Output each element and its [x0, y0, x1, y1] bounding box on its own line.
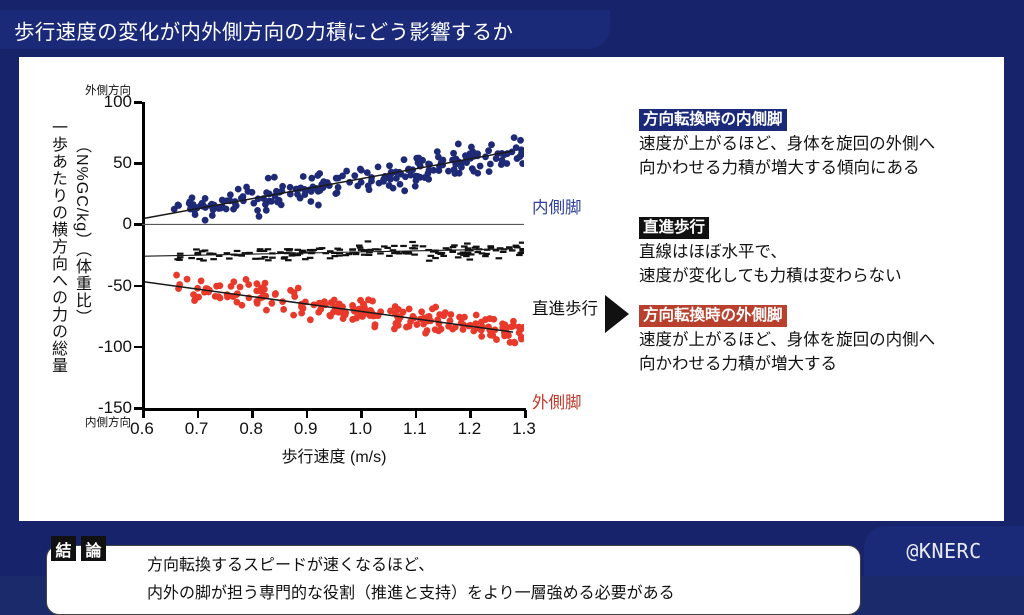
annotation-header: 方向転換時の内側脚: [639, 109, 787, 131]
y-tick: [134, 101, 142, 104]
x-tick-label: 0.9: [284, 419, 328, 439]
x-tick: [306, 410, 309, 418]
x-tick-label: 1.0: [338, 419, 382, 439]
annotation-line: 直線はほぼ水平で、: [639, 241, 1007, 264]
conclusion-tag-group: 結 論: [51, 536, 106, 561]
annotation-line: 速度が上がるほど、身体を旋回の内側へ: [639, 329, 1007, 352]
x-tick-label: 1.1: [393, 419, 437, 439]
annotation-header: 直進歩行: [639, 217, 709, 239]
annotation-outer-leg: 方向転換時の外側脚 速度が上がるほど、身体を旋回の内側へ 向かわせる力積が増大す…: [639, 305, 1007, 376]
y-tick-label: 100: [80, 92, 132, 112]
x-tick: [142, 410, 145, 418]
annotation-line: 速度が変化しても力積は変わらない: [639, 265, 1007, 288]
x-tick-label: 0.6: [120, 419, 164, 439]
watermark-badge: @KNERC: [864, 526, 1024, 576]
annotation-straight-walk: 直進歩行 直線はほぼ水平で、 速度が変化しても力積は変わらない: [639, 217, 1007, 288]
series-label-outer-leg: 外側脚: [532, 389, 582, 413]
conclusion-tag: 論: [81, 536, 106, 561]
x-tick-label: 0.7: [175, 419, 219, 439]
plot-area: [142, 102, 524, 408]
right-arrow-icon: [605, 295, 629, 333]
slide-title-bar: 歩行速度の変化が内外側方向の力積にどう影響するか: [0, 10, 610, 49]
y-axis-title-line1: 一歩あたりの横方向への力の総量: [45, 119, 69, 374]
y-tick-label: -100: [80, 337, 132, 357]
x-axis-line: [142, 408, 526, 411]
series-label-straight-walk: 直進歩行: [532, 295, 598, 319]
x-tick: [360, 410, 363, 418]
y-tick: [134, 285, 142, 288]
x-tick-label: 1.2: [447, 419, 491, 439]
y-tick-label: 0: [80, 214, 132, 234]
scatter-chart: 一歩あたりの横方向への力の総量 （N%GC/kg）（体重比） 外側方向 内側方向…: [19, 57, 619, 477]
content-panel: 一歩あたりの横方向への力の総量 （N%GC/kg）（体重比） 外側方向 内側方向…: [19, 57, 1004, 521]
slide-background: 歩行速度の変化が内外側方向の力積にどう影響するか 一歩あたりの横方向への力の総量…: [0, 0, 1024, 576]
conclusion-box: 方向転換するスピードが速くなるほど、 内外の脚が担う専門的な役割（推進と支持）を…: [46, 545, 861, 615]
x-tick: [524, 410, 527, 418]
conclusion-line: 内外の脚が担う専門的な役割（推進と支持）をより一層強める必要がある: [147, 580, 675, 608]
x-tick: [197, 410, 200, 418]
annotation-line: 向かわせる力積が増大する: [639, 353, 1007, 376]
x-axis-title: 歩行速度 (m/s): [142, 443, 526, 467]
annotation-inner-leg: 方向転換時の内側脚 速度が上がるほど、身体を旋回の外側へ 向かわせる力積が増大す…: [639, 109, 1007, 180]
y-tick: [134, 407, 142, 410]
x-tick-label: 0.8: [229, 419, 273, 439]
y-tick-label: 50: [80, 153, 132, 173]
watermark-text: @KNERC: [906, 539, 981, 563]
y-tick: [134, 162, 142, 165]
conclusion-tag: 結: [51, 536, 76, 561]
x-tick: [415, 410, 418, 418]
x-tick: [469, 410, 472, 418]
conclusion-text: 方向転換するスピードが速くなるほど、 内外の脚が担う専門的な役割（推進と支持）を…: [147, 552, 675, 607]
annotation-header: 方向転換時の外側脚: [639, 305, 787, 327]
annotation-line: 向かわせる力積が増大する傾向にある: [639, 157, 1007, 180]
conclusion-line: 方向転換するスピードが速くなるほど、: [147, 552, 675, 580]
page-title: 歩行速度の変化が内外側方向の力積にどう影響するか: [14, 15, 513, 45]
y-tick-label: -150: [80, 398, 132, 418]
y-tick: [134, 223, 142, 226]
x-tick-label: 1.3: [502, 419, 546, 439]
annotation-line: 速度が上がるほど、身体を旋回の外側へ: [639, 133, 1007, 156]
series-label-inner-leg: 内側脚: [532, 194, 582, 218]
y-tick-label: -50: [80, 276, 132, 296]
y-tick: [134, 346, 142, 349]
x-tick: [251, 410, 254, 418]
